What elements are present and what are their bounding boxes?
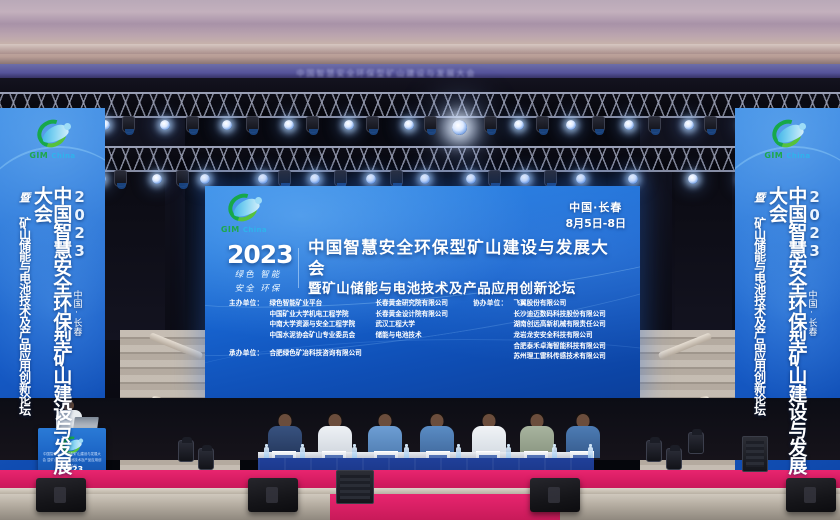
lighting-truss-upper — [0, 92, 840, 118]
event-dates: 8月5日-8日 — [565, 216, 626, 232]
organizer-value: 合肥绿色矿冶科技咨询有限公司 — [269, 348, 361, 359]
titles: 中国智慧安全环保型矿山建设与发展大会 暨矿山储能与电池技术及产品应用创新论坛 — [308, 238, 619, 299]
conference-title-main: 中国智慧安全环保型矿山建设与发展大会 — [308, 238, 619, 279]
slogan-line-2: 安全 环保 — [227, 283, 289, 295]
banner-title-main: 中国智慧安全环保型矿山建设与发展大会 — [32, 186, 71, 486]
host-column-2: 长春黄金研究院有限公司 长春黄金设计院有限公司 武汉工程大学 储能与电池技术 — [375, 298, 459, 341]
balustrade-rail — [658, 332, 713, 359]
banner-amp: 暨 — [753, 192, 764, 203]
banner-text-columns-left: 2023 中国·长春 中国智慧安全环保型矿山建设与发展大会 暨 矿山储能与电池技… — [0, 186, 105, 486]
organizer-label: 承办单位： — [229, 348, 263, 359]
slogan-line-1: 绿色 智能 — [227, 269, 289, 281]
screen-title-block: 2023 绿色 智能 安全 环保 中国智慧安全环保型矿山建设与发展大会 暨矿山储… — [227, 238, 619, 299]
banner-title-main: 中国智慧安全环保型矿山建设与发展大会 — [767, 186, 806, 486]
stage-monitor — [530, 478, 580, 512]
cohost-label: 协办单位： — [473, 298, 507, 362]
host-item: 绿色智能矿业平台 — [269, 298, 369, 309]
banner-city: 中国·长春 — [71, 290, 80, 336]
moving-head-light — [688, 432, 704, 454]
side-banner-right: GIM China 2023 中国·长春 中国智慧安全环保型矿山建设与发展大会 … — [735, 108, 840, 488]
banner-amp: 暨 — [18, 192, 29, 203]
gim-logo-text: GIM China — [213, 225, 275, 234]
banner-city: 中国·长春 — [806, 290, 815, 336]
organizer-left-column: 主办单位： 绿色智能矿业平台 中国矿业大学机电工程学院 中南大学资源与安全工程学… — [229, 298, 459, 362]
stage-monitor — [248, 478, 298, 512]
stage-scene: 中国智慧安全环保型矿山建设与发展大会 — [0, 0, 840, 520]
host-label: 主办单位： — [229, 298, 263, 341]
moving-head-light — [178, 440, 194, 462]
event-city: 中国·长春 — [565, 200, 626, 216]
cohost-item: 龙岩龙安安全科技有限公司 — [513, 330, 605, 341]
host-item: 中国水泥协会矿山专业委员会 — [269, 330, 369, 341]
cohost-item: 飞翼股份有限公司 — [513, 298, 605, 309]
host-row: 主办单位： 绿色智能矿业平台 中国矿业大学机电工程学院 中南大学资源与安全工程学… — [229, 298, 459, 341]
banner-title-sub: 矿山储能与电池技术及产品应用创新论坛 — [753, 217, 765, 415]
spotlight-row-upper — [0, 120, 840, 150]
organizer-row: 承办单位： 合肥绿色矿冶科技咨询有限公司 — [229, 348, 459, 359]
moving-head-light — [646, 440, 662, 462]
ceiling — [0, 0, 840, 66]
host-item: 长春黄金研究院有限公司 — [375, 298, 459, 309]
screen-logo: GIM China — [213, 194, 275, 234]
balustrade-rail — [149, 332, 204, 359]
gim-logo-text: GIM China — [22, 151, 84, 160]
cohost-item: 合肥泰禾卓海智能科技有限公司 — [513, 341, 605, 352]
banner-year: 2023 — [71, 188, 86, 260]
gim-logo-text: GIM China — [757, 151, 819, 160]
gim-logo-icon — [224, 194, 264, 224]
banner-year: 2023 — [806, 188, 821, 260]
cohost-column: 协办单位： 飞翼股份有限公司 长沙迪迈数码科技股份有限公司 湖南创远高新机械有限… — [473, 298, 628, 362]
title-divider — [298, 248, 299, 288]
banner-title-sub: 矿山储能与电池技术及产品应用创新论坛 — [18, 217, 30, 415]
host-item: 中南大学资源与安全工程学院 — [269, 319, 369, 330]
host-item: 武汉工程大学 — [375, 319, 459, 330]
moving-head-light — [666, 448, 682, 470]
foreground-floor — [0, 494, 840, 520]
event-year: 2023 — [227, 242, 289, 267]
banner-logo-left: GIM China — [22, 120, 84, 160]
cohost-item: 苏州理工雷科传感技术有限公司 — [513, 351, 605, 362]
cohost-item: 长沙迪迈数码科技股份有限公司 — [513, 309, 605, 320]
host-column-1: 绿色智能矿业平台 中国矿业大学机电工程学院 中南大学资源与安全工程学院 中国水泥… — [269, 298, 369, 341]
cohost-item: 湖南创远高新机械有限责任公司 — [513, 319, 605, 330]
gim-logo-icon — [33, 120, 73, 150]
organizer-credits: 主办单位： 绿色智能矿业平台 中国矿业大学机电工程学院 中南大学资源与安全工程学… — [229, 298, 628, 362]
stage-monitor-center — [336, 470, 374, 504]
year-block: 2023 绿色 智能 安全 环保 — [227, 242, 289, 296]
banner-logo-right: GIM China — [757, 120, 819, 160]
banner-text-columns-right: 2023 中国·长春 中国智慧安全环保型矿山建设与发展大会 暨 矿山储能与电池技… — [735, 186, 840, 486]
host-item: 中国矿业大学机电工程学院 — [269, 309, 369, 320]
conference-title-sub: 暨矿山储能与电池技术及产品应用创新论坛 — [308, 281, 619, 299]
side-banner-left: GIM China 2023 中国·长春 中国智慧安全环保型矿山建设与发展大会 … — [0, 108, 105, 488]
main-led-screen: GIM China 中国·长春 8月5日-8日 2023 绿色 智能 安全 环保… — [205, 186, 640, 398]
moving-head-light — [198, 448, 214, 470]
cohost-row: 协办单位： 飞翼股份有限公司 长沙迪迈数码科技股份有限公司 湖南创远高新机械有限… — [473, 298, 628, 362]
cohost-list: 飞翼股份有限公司 长沙迪迈数码科技股份有限公司 湖南创远高新机械有限责任公司 龙… — [513, 298, 605, 362]
gim-logo-icon — [768, 120, 808, 150]
host-item: 长春黄金设计院有限公司 — [375, 309, 459, 320]
event-location-block: 中国·长春 8月5日-8日 — [565, 200, 626, 232]
host-item: 储能与电池技术 — [375, 330, 459, 341]
